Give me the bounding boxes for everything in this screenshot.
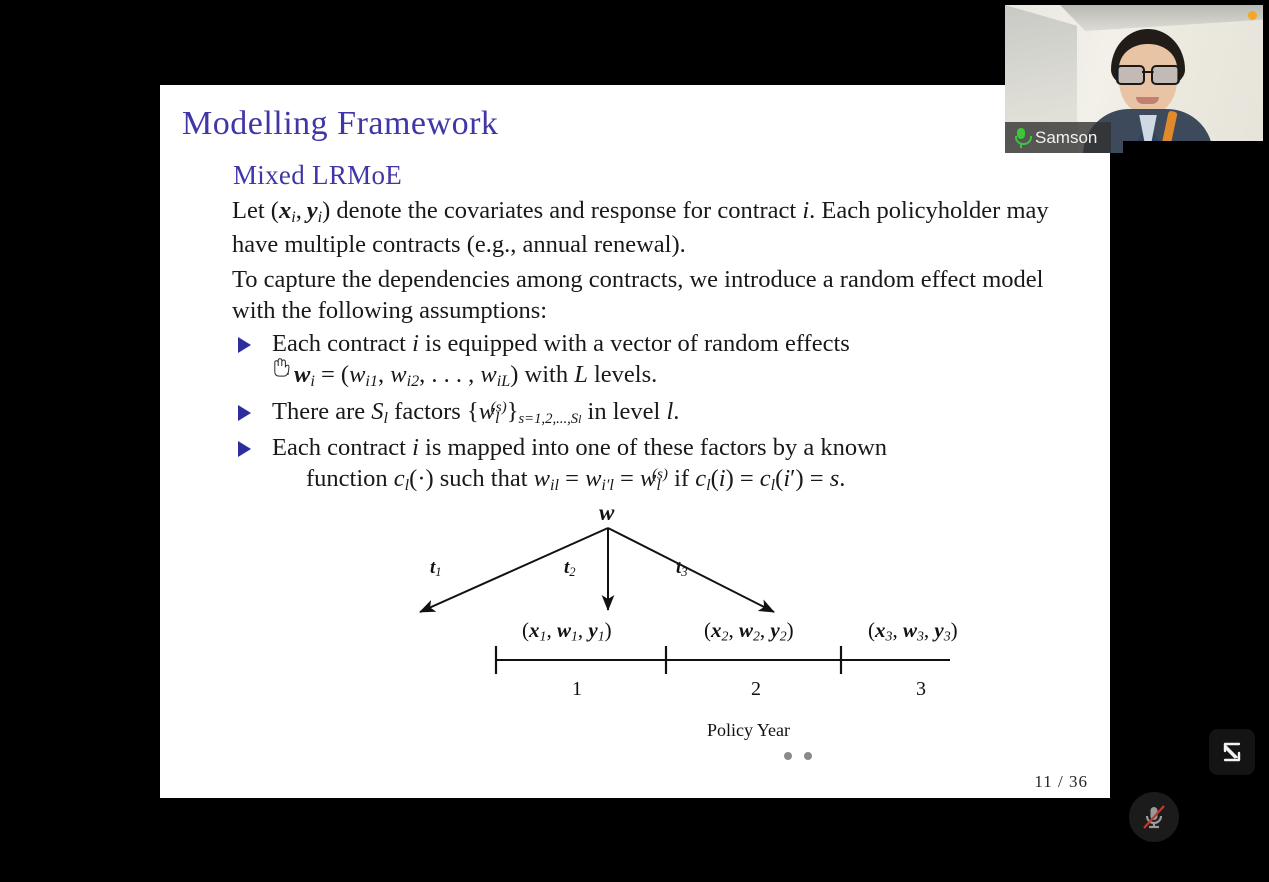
list-item: There are Sl factors {wl(s)}s=1,2,...,Sl…	[232, 396, 1062, 430]
slide-subtitle: Mixed LRMoE	[233, 160, 402, 191]
diagram-axis-label: Policy Year	[707, 720, 790, 741]
triangle-bullet-icon	[238, 441, 251, 457]
mute-microphone-button[interactable]	[1129, 792, 1179, 842]
annotate-pen-icon	[1218, 738, 1246, 766]
diagram-node-label-3: (x3, w3, y3)	[868, 618, 958, 644]
diagram-tick-label-2: 2	[751, 678, 761, 701]
page-number: 11 / 36	[1034, 772, 1088, 792]
diagram-tick-label-1: 1	[572, 678, 582, 701]
presentation-viewer: Modelling Framework Mixed LRMoE Let (xi,…	[0, 0, 1269, 882]
assumption-bullet-list: Each contract i is equipped with a vecto…	[232, 328, 1062, 500]
slide-title: Modelling Framework	[182, 105, 498, 143]
diagram-root-label: w	[599, 500, 614, 526]
pagination-dot	[784, 752, 792, 760]
random-effects-diagram: w t1 t2 t3 (x1, w1, y1) (x2, w2, y2) (x3…	[310, 500, 950, 765]
paragraph-assumptions-intro: To capture the dependencies among contra…	[232, 264, 1050, 326]
participant-name-tag: Samson	[1005, 122, 1111, 153]
webcam-person-mouth	[1136, 97, 1159, 104]
webcam-letterbox	[1123, 141, 1263, 153]
list-item: Each contract i is equipped with a vecto…	[232, 328, 1062, 393]
mic-stem	[1020, 143, 1022, 148]
diagram-tick-label-3: 3	[916, 678, 926, 701]
microphone-on-icon	[1014, 128, 1028, 148]
diagram-edge-label-t1: t1	[430, 557, 442, 580]
glasses-lens-left	[1116, 65, 1145, 85]
participant-name: Samson	[1035, 128, 1097, 148]
glasses-lens-right	[1151, 65, 1180, 85]
microphone-muted-icon	[1139, 802, 1169, 832]
pagination-dot	[804, 752, 812, 760]
diagram-edge-label-t2: t2	[564, 557, 576, 580]
mic-arc	[1015, 136, 1032, 145]
list-item: Each contract i is mapped into one of th…	[232, 432, 1062, 497]
diagram-node-label-1: (x1, w1, y1)	[522, 618, 612, 644]
webcam-person-glasses	[1116, 65, 1180, 82]
diagram-arrows	[310, 500, 950, 765]
triangle-bullet-icon	[238, 405, 251, 421]
recording-indicator-icon	[1248, 11, 1257, 20]
diagram-node-label-2: (x2, w2, y2)	[704, 618, 794, 644]
annotate-tool-button[interactable]	[1209, 729, 1255, 775]
triangle-bullet-icon	[238, 337, 251, 353]
slide-canvas[interactable]: Modelling Framework Mixed LRMoE Let (xi,…	[160, 85, 1110, 798]
slide-pagination-dots	[784, 752, 812, 760]
diagram-edge-label-t3: t3	[676, 557, 688, 580]
webcam-video-tile[interactable]: Samson	[1005, 5, 1263, 153]
paragraph-definition: Let (xi, yi) denote the covariates and r…	[232, 195, 1050, 260]
